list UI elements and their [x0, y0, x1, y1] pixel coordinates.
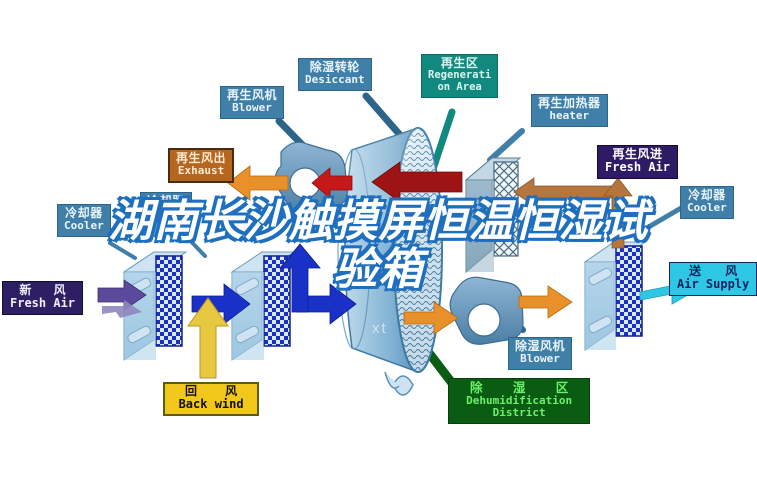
label-regen-heater-en: heater	[538, 110, 601, 122]
label-dehum-district: 除 湿 区 Dehumidification District	[448, 378, 590, 424]
cooler-coil-1	[124, 252, 186, 360]
label-regen-blower-cn: 再生风机	[227, 89, 277, 102]
label-cooler-mid: 冷却器	[140, 192, 192, 223]
label-fresh-air-cn: 新 风	[10, 284, 75, 297]
label-regen-area-en-2: on Area	[428, 82, 491, 94]
supply-coil	[585, 242, 645, 350]
label-regen-fresh-air-cn: 再生风进	[605, 148, 670, 161]
label-dehum-district-cn: 除 湿 区	[457, 381, 581, 395]
label-fresh-air-en: Fresh Air	[10, 297, 75, 310]
label-exhaust-cn: 再生风出	[176, 152, 226, 165]
diagram-canvas: 除湿转轮 Desiccant 再生风机 Blower 再生区 Regenerat…	[0, 0, 757, 488]
label-regen-fresh-air-en: Fresh Air	[605, 161, 670, 174]
label-regen-area-cn: 再生区	[428, 57, 491, 70]
label-air-supply: 送 风 Air Supply	[669, 262, 757, 296]
label-regen-blower-en: Blower	[227, 102, 277, 114]
label-back-wind-en: Back wind	[173, 398, 249, 411]
label-regen-blower: 再生风机 Blower	[220, 86, 284, 119]
label-exhaust-en: Exhaust	[176, 165, 226, 177]
label-dehum-blower-cn: 除湿风机	[515, 340, 565, 353]
dehum-blower-fan	[450, 277, 523, 344]
label-fresh-air: 新 风 Fresh Air	[2, 281, 83, 315]
label-back-wind-cn: 回 风	[173, 385, 249, 398]
label-dehum-blower: 除湿风机 Blower	[508, 337, 572, 370]
label-exhaust: 再生风出 Exhaust	[168, 148, 234, 183]
label-back-wind: 回 风 Back wind	[163, 382, 259, 416]
label-cooler-right: 冷却器 Cooler	[680, 186, 734, 219]
arrow-regen-fresh-in	[514, 178, 632, 248]
desiccant-rotor	[338, 128, 442, 395]
label-cooler-left-cn: 冷却器	[64, 207, 104, 220]
label-cooler-left: 冷却器 Cooler	[57, 204, 111, 237]
diagram-graphics	[0, 0, 757, 488]
label-desiccant-wheel-cn: 除湿转轮	[305, 61, 365, 74]
label-cooler-right-en: Cooler	[687, 202, 727, 214]
label-regen-heater: 再生加热器 heater	[531, 94, 608, 127]
label-desiccant-wheel-en: Desiccant	[305, 74, 365, 86]
label-regen-area: 再生区 Regenerati on Area	[421, 54, 498, 98]
label-cooler-left-en: Cooler	[64, 220, 104, 232]
label-regen-heater-cn: 再生加热器	[538, 97, 601, 110]
label-air-supply-en: Air Supply	[677, 278, 749, 291]
label-dehum-district-en-2: District	[457, 407, 581, 419]
label-air-supply-cn: 送 风	[677, 265, 749, 278]
regen-heater	[466, 158, 520, 272]
label-dehum-blower-en: Blower	[515, 353, 565, 365]
label-cooler-right-cn: 冷却器	[687, 189, 727, 202]
label-regen-fresh-air: 再生风进 Fresh Air	[597, 145, 678, 179]
arrow-dehum-blower-out	[519, 286, 572, 318]
label-desiccant-wheel: 除湿转轮 Desiccant	[298, 58, 372, 91]
label-cooler-mid-cn: 冷却器	[147, 195, 185, 208]
